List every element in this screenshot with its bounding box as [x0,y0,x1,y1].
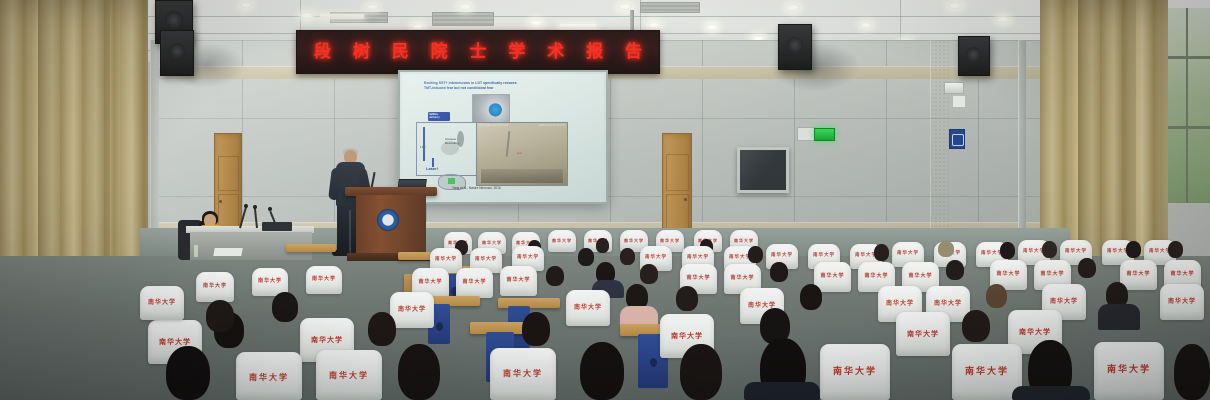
papers [213,248,242,256]
banner-char: 院 [431,44,448,61]
seat-chair: 南华大学 [820,344,890,400]
seat-chair: 南华大学 [548,230,576,252]
audience-head [680,344,722,400]
side-door-right[interactable] [662,133,692,235]
seat-chair: 南华大学 [896,312,950,356]
audience-head [166,346,210,400]
chair-logo: 南华大学 [500,278,537,283]
water-bottle [194,245,198,257]
audience-head [580,342,624,400]
audience-head [620,248,635,265]
ceiling-light [996,16,1010,23]
side-door-left[interactable] [214,133,242,232]
chair-logo: 南华大学 [148,339,202,346]
audience-head [640,264,658,284]
ceiling-light [618,3,632,10]
chair-logo: 南华大学 [140,300,184,306]
wall-lamp [944,82,964,94]
chair-logo: 南华大学 [252,279,288,284]
chair-logo: 南华大学 [1034,272,1071,277]
audience-head [946,260,964,280]
ceiling-light [860,22,872,28]
chair-logo: 南华大学 [892,252,924,257]
chair-logo: 南华大学 [390,307,434,313]
wall-junction-box [952,95,966,108]
chair-logo: 南华大学 [926,301,970,307]
chair-logo: 南华大学 [820,368,890,377]
seat-chair: 南华大学 [490,348,556,400]
banner-char: 报 [586,44,603,61]
audience-head [874,244,889,261]
chair-logo: 南华大学 [306,277,342,282]
seat-chair: 南华大学 [456,268,493,298]
chair-logo: 南华大学 [730,239,758,243]
banner-char: 士 [469,44,486,61]
chair-logo: 南华大学 [236,374,302,382]
chair-logo: 南华大学 [470,258,502,263]
audience-head [748,246,763,263]
microphone-head-icon [253,205,257,209]
audience-shoulders [1098,304,1140,330]
audio-speaker [778,24,812,70]
audience-head [676,286,698,311]
chair-logo: 南华大学 [430,258,462,263]
banner-char: 术 [547,44,564,61]
audio-speaker [160,30,194,76]
audience-head [1042,241,1057,258]
audience-head [770,262,788,282]
seat-chair: 南华大学 [390,292,434,328]
chair-logo: 南华大学 [1160,299,1204,305]
audience-shoulders [744,382,820,400]
window [1168,8,1210,203]
audience-shoulders [1012,386,1090,400]
seat-chair: 南华大学 [140,286,184,320]
audio-speaker [958,36,990,76]
ceiling-light [300,12,314,19]
audience-head [1174,344,1210,400]
chair-logo: 南华大学 [724,276,761,281]
banner-char: 民 [392,44,409,61]
blue-wall-sign [949,129,965,149]
audience-head [1078,258,1096,278]
seat-chair: 南华大学 [500,266,537,296]
audience-head [800,284,822,310]
audience-head [1168,241,1183,258]
audience-head [1000,242,1015,259]
audience-head [596,238,609,253]
ceiling-light [458,3,472,10]
chair-logo: 南华大学 [300,337,354,344]
chair-logo: 南华大学 [902,274,939,279]
audience-head [578,248,594,266]
chair-logo: 南华大学 [858,274,895,279]
chair-logo: 南华大学 [640,256,672,261]
table-equipment [262,222,292,231]
audience-head [272,292,298,322]
chair-logo: 南华大学 [1060,250,1092,255]
chair-logo: 南华大学 [896,331,950,338]
chair-logo: 南华大学 [490,370,556,378]
audience-head [368,312,396,346]
chair-logo: 南华大学 [814,274,851,279]
chair-logo: 南华大学 [566,305,610,311]
chair-logo: 南华大学 [478,241,506,245]
chair-logo: 南华大学 [512,256,544,261]
chair-logo: 南华大学 [990,272,1027,277]
seat-chair: 南华大学 [236,352,302,400]
led-scrolling-banner: 段 树 民 院 士 学 术 报 告 [296,30,660,74]
banner-char: 告 [625,44,642,61]
banner-char: 树 [353,44,370,61]
chair-logo: 南华大学 [682,256,714,261]
chair-logo: 南华大学 [620,239,648,243]
seat-chair: 南华大学 [196,272,234,302]
audience-head [546,266,564,286]
audience-head [1126,241,1141,258]
ceiling-light [706,24,718,30]
ceiling-light [240,2,252,8]
chair-logo: 南华大学 [456,280,493,285]
audience-head [962,310,990,342]
chair-logo: 南华大学 [548,239,576,243]
ceiling-light [366,4,379,10]
chair-logo: 南华大学 [808,254,840,259]
chair-logo: 南华大学 [412,280,449,285]
chair-logo: 南华大学 [660,333,714,340]
wall-display-monitor [737,147,789,193]
seat-chair: 南华大学 [1094,342,1164,400]
chair-logo: 南华大学 [1042,299,1086,305]
seat-desk [286,244,336,252]
ceiling-light [786,4,800,11]
chair-logo: 南华大学 [1120,272,1157,277]
seat-chair: 南华大学 [952,344,1022,400]
chair-logo: 南华大学 [680,276,717,281]
ceiling-light [948,2,962,9]
chair-logo: 南华大学 [1094,366,1164,375]
chair-logo: 南华大学 [316,372,382,380]
microphone-head-icon [244,204,248,208]
chair-logo: 南华大学 [1164,272,1201,277]
banner-char: 段 [314,44,331,61]
chair-logo: 南华大学 [656,239,684,243]
seat-chair: 南华大学 [566,290,610,326]
university-crest-icon [377,209,399,231]
microphone-head-icon [268,207,272,211]
presenter-leg-split [349,210,351,254]
chair-logo: 南华大学 [196,284,234,289]
banner-char: 学 [508,44,525,61]
chair-logo: 南华大学 [1008,329,1062,336]
audience-head [986,284,1007,308]
seat-chair: 南华大学 [316,350,382,400]
audience-head [398,344,440,400]
seat-chair: 南华大学 [1160,284,1204,320]
chair-logo: 南华大学 [952,368,1022,377]
exit-sign-icon [814,128,835,141]
audience-head-cap [938,241,954,257]
audience-head [522,312,550,346]
audience-head [206,300,234,332]
chair-logo: 南华大学 [878,301,922,307]
seat-chair: 南华大学 [306,266,342,294]
lecture-hall-photo: 段 树 民 院 士 学 术 报 告 Exciting SST+ interneu… [0,0,1210,400]
chair-logo: 南华大学 [766,254,798,259]
